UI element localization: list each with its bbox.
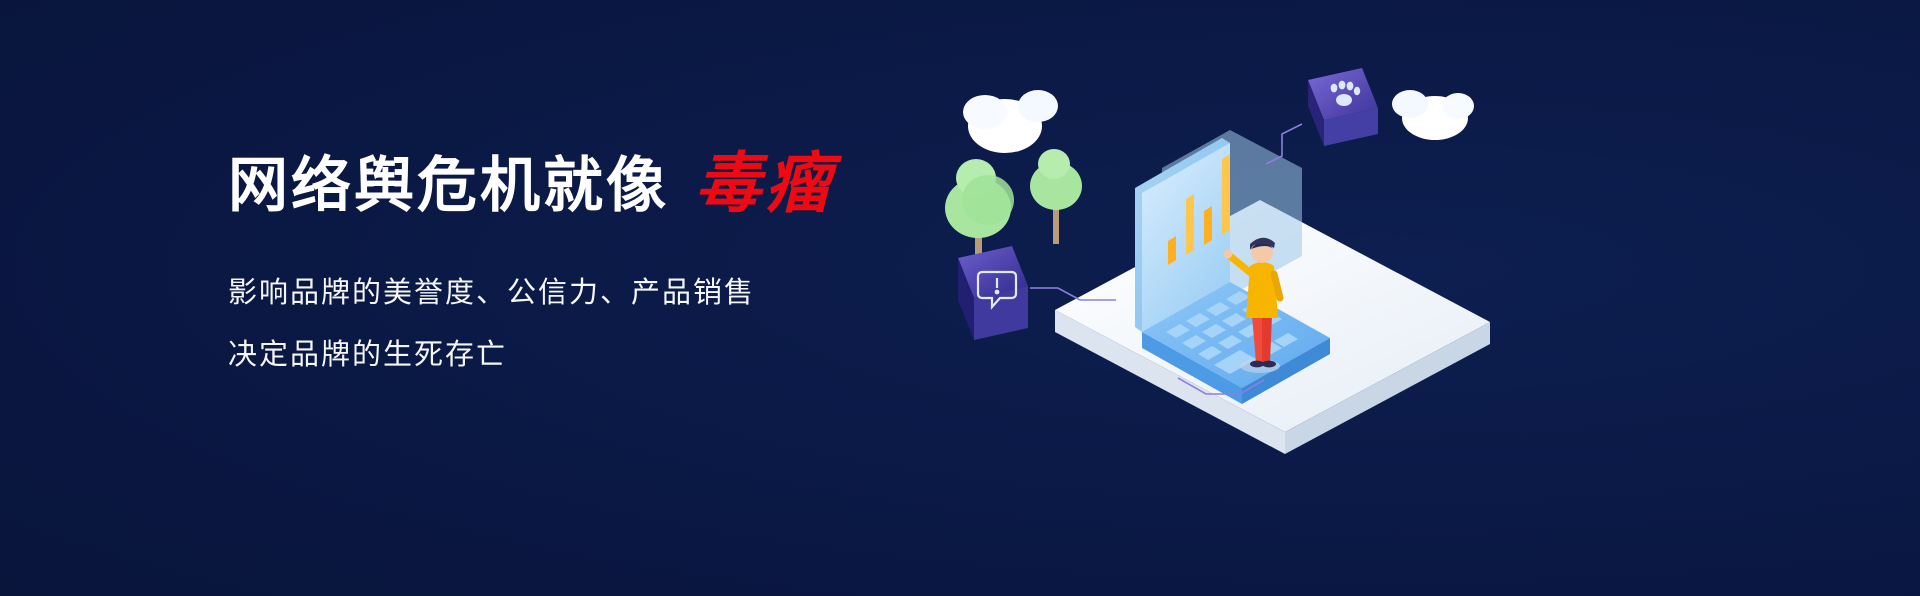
cloud-icon-left xyxy=(963,90,1058,153)
illustration xyxy=(930,60,1490,460)
subtitle-group: 影响品牌的美誉度、公信力、产品销售 决定品牌的生死存亡 xyxy=(228,279,1048,370)
banner-root: 网络舆危机就像 毒瘤 影响品牌的美誉度、公信力、产品销售 决定品牌的生死存亡 xyxy=(0,0,1920,596)
subtitle-line-2: 决定品牌的生死存亡 xyxy=(228,341,1048,370)
headline-red-text: 毒瘤 xyxy=(695,150,835,216)
cube-badge-bottom-left xyxy=(958,246,1028,340)
banner-text-block: 网络舆危机就像 毒瘤 影响品牌的美誉度、公信力、产品销售 决定品牌的生死存亡 xyxy=(228,150,1048,370)
tree-icon-2 xyxy=(1030,149,1082,244)
cloud-icon-right xyxy=(1392,90,1474,140)
cube-badge-top-right xyxy=(1308,68,1378,146)
headline-white-text: 网络舆危机就像 xyxy=(228,156,669,216)
headline: 网络舆危机就像 毒瘤 xyxy=(228,150,1048,216)
subtitle-line-1: 影响品牌的美誉度、公信力、产品销售 xyxy=(228,279,1048,308)
